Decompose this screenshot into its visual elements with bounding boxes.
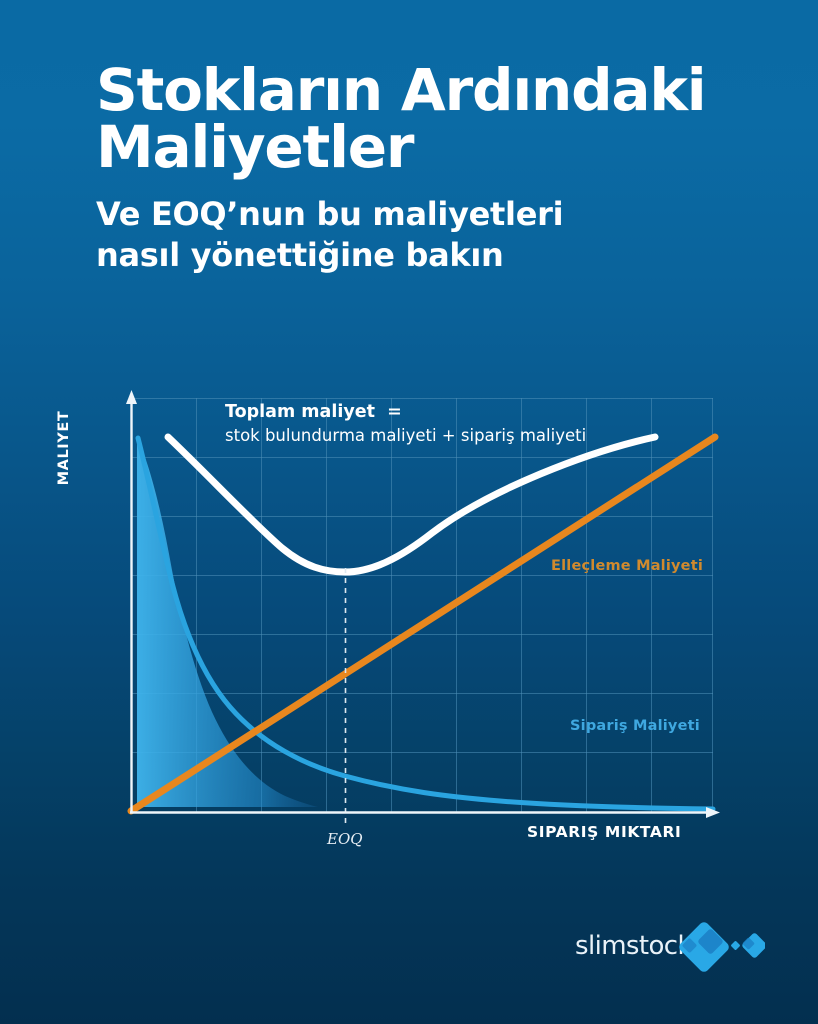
- diamond-small-icon: [731, 941, 741, 951]
- diamond-large-icon: [677, 920, 731, 974]
- total-cost-annotation: Toplam maliyet = stok bulundurma maliyet…: [225, 401, 645, 447]
- diamond-medium-icon: [741, 932, 765, 959]
- y-axis-arrow-icon: [126, 390, 137, 404]
- poster-root: Stokların Ardındaki Maliyetler Ve EOQ’nu…: [0, 0, 818, 1024]
- series-line-handling-cost: [131, 437, 715, 811]
- series-label-ordering-cost: Sipariş Maliyeti: [570, 718, 700, 734]
- total-cost-annotation-line-1: Toplam maliyet =: [225, 401, 645, 425]
- eoq-cost-chart: Toplam maliyet = stok bulundurma maliyet…: [0, 0, 818, 1024]
- series-label-handling-cost: Elleçleme Maliyeti: [551, 558, 703, 574]
- slimstock-diamond-marks-icon: [675, 918, 765, 978]
- x-axis-label: SIPARIŞ MIKTARI: [527, 823, 681, 841]
- chart-gridlines-horizontal: [131, 399, 713, 753]
- y-axis-label: MALIYET: [56, 378, 72, 518]
- chart-canvas: [0, 0, 818, 1024]
- eoq-tick-label: EOQ: [327, 830, 363, 848]
- total-cost-annotation-line-2: stok bulundurma maliyeti + sipariş maliy…: [225, 425, 645, 447]
- slimstock-logo: slimstock: [575, 918, 765, 978]
